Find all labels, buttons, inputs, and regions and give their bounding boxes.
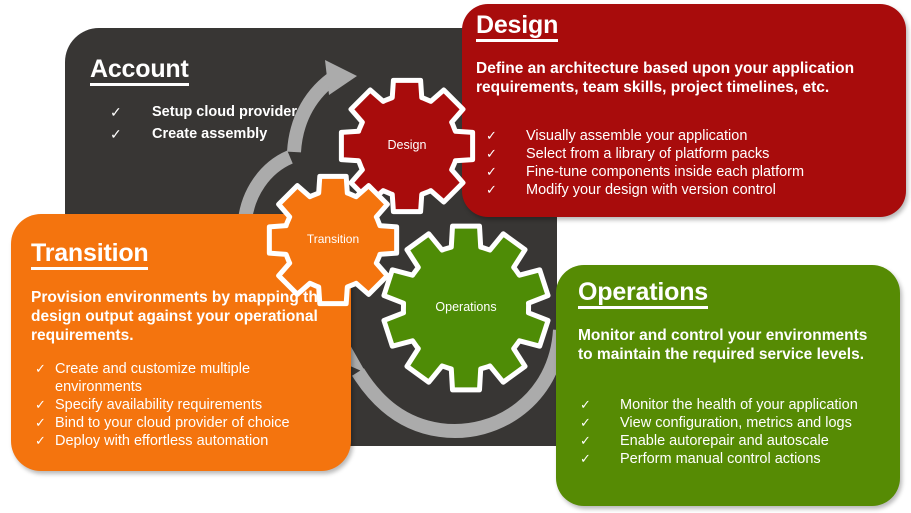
- check-icon: ✓: [35, 415, 46, 431]
- check-icon: ✓: [580, 415, 591, 431]
- operations-item-3: Perform manual control actions: [620, 451, 890, 469]
- gear-operations-shape: [380, 222, 552, 394]
- list-item: ✓ View configuration, metrics and logs: [580, 415, 890, 433]
- design-item-1: Select from a library of platform packs: [526, 146, 896, 164]
- design-panel: Design Define an architecture based upon…: [462, 4, 906, 217]
- list-item: ✓ Monitor the health of your application: [580, 397, 890, 415]
- list-item: ✓ Modify your design with version contro…: [486, 182, 896, 200]
- design-item-3: Modify your design with version control: [526, 182, 896, 200]
- transition-title: Transition: [31, 240, 148, 270]
- check-icon: ✓: [35, 433, 46, 449]
- operations-item-2: Enable autorepair and autoscale: [620, 433, 890, 451]
- list-item: ✓ Perform manual control actions: [580, 451, 890, 469]
- gear-transition-shape: [265, 172, 401, 308]
- list-item: ✓ Specify availability requirements: [35, 397, 340, 415]
- list-item: ✓ Visually assemble your application: [486, 128, 896, 146]
- check-icon: ✓: [580, 433, 591, 449]
- list-item: ✓ Create and customize multiple environm…: [35, 361, 340, 397]
- list-item: ✓ Deploy with effortless automation: [35, 433, 340, 451]
- check-icon: ✓: [486, 146, 497, 162]
- transition-item-2: Bind to your cloud provider of choice: [55, 415, 340, 433]
- design-item-2: Fine-tune components inside each platfor…: [526, 164, 896, 182]
- design-body: Define an architecture based upon your a…: [476, 60, 896, 98]
- gear-transition: Transition: [265, 172, 401, 308]
- transition-item-0: Create and customize multiple environmen…: [55, 361, 340, 397]
- operations-title: Operations: [578, 279, 708, 309]
- check-icon: ✓: [580, 451, 591, 467]
- list-item: ✓ Fine-tune components inside each platf…: [486, 164, 896, 182]
- check-icon: ✓: [110, 126, 122, 143]
- check-icon: ✓: [486, 164, 497, 180]
- design-checklist: ✓ Visually assemble your application ✓ S…: [486, 128, 896, 200]
- transition-checklist: ✓ Create and customize multiple environm…: [35, 361, 340, 451]
- transition-item-3: Deploy with effortless automation: [55, 433, 340, 451]
- check-icon: ✓: [486, 128, 497, 144]
- diagram-canvas: Account ✓ Setup cloud providers ✓ Create…: [0, 0, 911, 513]
- transition-item-1: Specify availability requirements: [55, 397, 340, 415]
- account-title: Account: [90, 56, 189, 86]
- check-icon: ✓: [35, 397, 46, 413]
- check-icon: ✓: [486, 182, 497, 198]
- operations-item-0: Monitor the health of your application: [620, 397, 890, 415]
- design-title: Design: [476, 12, 558, 42]
- check-icon: ✓: [110, 104, 122, 121]
- list-item: ✓ Bind to your cloud provider of choice: [35, 415, 340, 433]
- gear-operations: Operations: [380, 222, 552, 394]
- operations-checklist: ✓ Monitor the health of your application…: [580, 397, 890, 469]
- operations-body: Monitor and control your environments to…: [578, 327, 868, 365]
- operations-panel: Operations Monitor and control your envi…: [556, 265, 900, 506]
- list-item: ✓ Enable autorepair and autoscale: [580, 433, 890, 451]
- check-icon: ✓: [35, 361, 46, 377]
- design-item-0: Visually assemble your application: [526, 128, 896, 146]
- check-icon: ✓: [580, 397, 591, 413]
- operations-item-1: View configuration, metrics and logs: [620, 415, 890, 433]
- list-item: ✓ Select from a library of platform pack…: [486, 146, 896, 164]
